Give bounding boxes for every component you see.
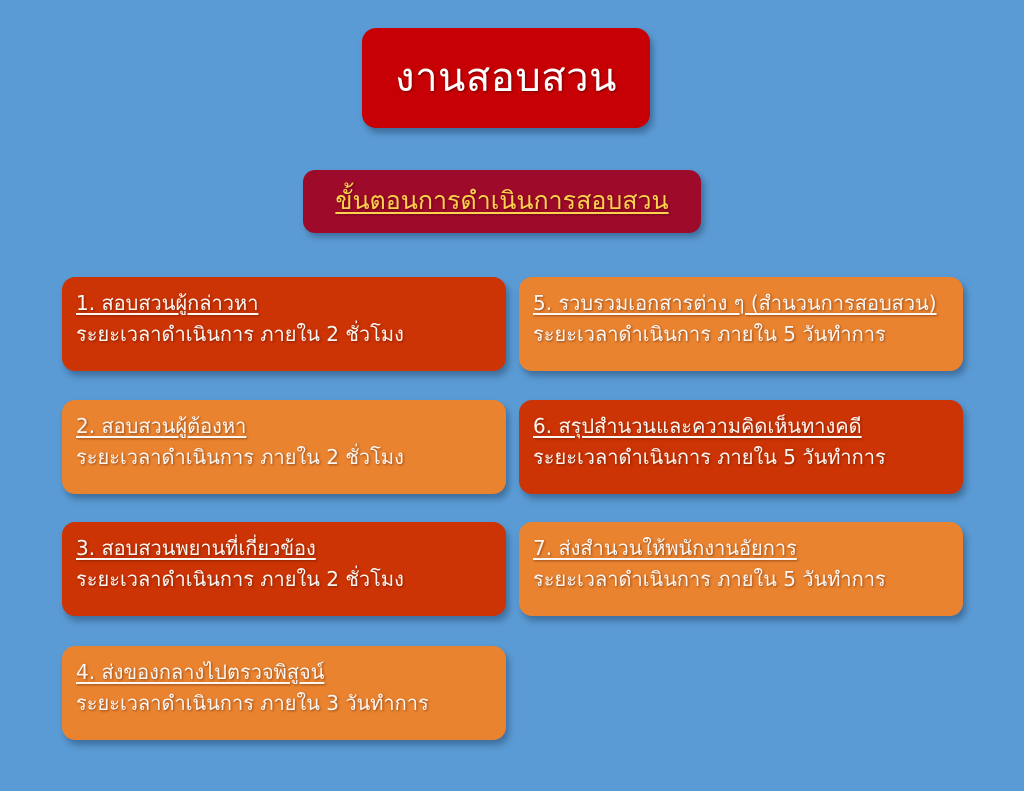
step-duration-5: ระยะเวลาดำเนินการ ภายใน 5 วันทำการ <box>533 322 963 347</box>
step-box-5: 5. รวบรวมเอกสารต่าง ๆ (สำนวนการสอบสวน) ร… <box>519 277 963 371</box>
step-title-6: 6. สรุปสำนวนและความคิดเห็นทางคดี <box>533 414 963 439</box>
slide-canvas: งานสอบสวน ขั้นตอนการดำเนินการสอบสวน 1. ส… <box>0 0 1024 791</box>
subtitle-box: ขั้นตอนการดำเนินการสอบสวน <box>303 170 701 233</box>
step-box-1: 1. สอบสวนผู้กล่าวหา ระยะเวลาดำเนินการ ภา… <box>62 277 506 371</box>
step-box-3: 3. สอบสวนพยานที่เกี่ยวข้อง ระยะเวลาดำเนิ… <box>62 522 506 616</box>
step-duration-7: ระยะเวลาดำเนินการ ภายใน 5 วันทำการ <box>533 567 963 592</box>
step-title-4: 4. ส่งของกลางไปตรวจพิสูจน์ <box>76 660 506 685</box>
step-title-5: 5. รวบรวมเอกสารต่าง ๆ (สำนวนการสอบสวน) <box>533 291 963 316</box>
step-box-7: 7. ส่งสำนวนให้พนักงานอัยการ ระยะเวลาดำเน… <box>519 522 963 616</box>
step-title-2: 2. สอบสวนผู้ต้องหา <box>76 414 506 439</box>
step-box-6: 6. สรุปสำนวนและความคิดเห็นทางคดี ระยะเวล… <box>519 400 963 494</box>
step-duration-1: ระยะเวลาดำเนินการ ภายใน 2 ชั่วโมง <box>76 322 506 347</box>
step-box-4: 4. ส่งของกลางไปตรวจพิสูจน์ ระยะเวลาดำเนิ… <box>62 646 506 740</box>
step-duration-2: ระยะเวลาดำเนินการ ภายใน 2 ชั่วโมง <box>76 445 506 470</box>
step-title-1: 1. สอบสวนผู้กล่าวหา <box>76 291 506 316</box>
title-box: งานสอบสวน <box>362 28 650 128</box>
step-box-2: 2. สอบสวนผู้ต้องหา ระยะเวลาดำเนินการ ภาย… <box>62 400 506 494</box>
page-title: งานสอบสวน <box>395 56 617 100</box>
step-title-7: 7. ส่งสำนวนให้พนักงานอัยการ <box>533 536 963 561</box>
step-duration-6: ระยะเวลาดำเนินการ ภายใน 5 วันทำการ <box>533 445 963 470</box>
step-title-3: 3. สอบสวนพยานที่เกี่ยวข้อง <box>76 536 506 561</box>
step-duration-4: ระยะเวลาดำเนินการ ภายใน 3 วันทำการ <box>76 691 506 716</box>
step-duration-3: ระยะเวลาดำเนินการ ภายใน 2 ชั่วโมง <box>76 567 506 592</box>
subtitle-heading: ขั้นตอนการดำเนินการสอบสวน <box>335 187 668 216</box>
